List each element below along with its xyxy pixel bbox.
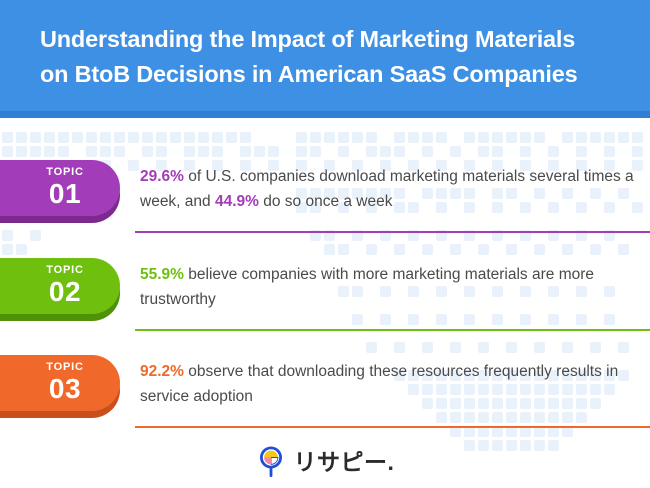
topic-badge-03[interactable]: TOPIC 03 bbox=[0, 355, 120, 415]
header-banner: Understanding the Impact of Marketing Ma… bbox=[0, 0, 650, 118]
topic-badge-inner: TOPIC 01 bbox=[32, 166, 98, 208]
stat-primary-value: 55.9% bbox=[140, 266, 184, 283]
stat-primary-value: 92.2% bbox=[140, 363, 184, 380]
stat-secondary-value: 44.9% bbox=[215, 193, 259, 210]
brand-name-text: リサピー bbox=[294, 449, 388, 475]
topic-number-label: 03 bbox=[32, 374, 98, 403]
brand-name-period: . bbox=[388, 449, 395, 475]
topic-description: 92.2% observe that downloading these res… bbox=[140, 359, 640, 409]
topic-text-part2: do so once a week bbox=[259, 193, 393, 210]
brand-name: リサピー. bbox=[294, 447, 395, 477]
topic-badge-face: TOPIC 01 bbox=[0, 160, 120, 216]
infographic-canvas: Understanding the Impact of Marketing Ma… bbox=[0, 0, 650, 488]
topic-description: 29.6% of U.S. companies download marketi… bbox=[140, 164, 640, 214]
topic-badge-02[interactable]: TOPIC 02 bbox=[0, 258, 120, 318]
topic-badge-01[interactable]: TOPIC 01 bbox=[0, 160, 120, 220]
topic-badge-face: TOPIC 03 bbox=[0, 355, 120, 411]
topic-badge-inner: TOPIC 02 bbox=[32, 264, 98, 306]
brand-logo[interactable]: リサピー. bbox=[0, 440, 650, 484]
topic-number-label: 02 bbox=[32, 277, 98, 306]
topic-divider-line bbox=[135, 329, 650, 331]
topic-description: 55.9% believe companies with more market… bbox=[140, 262, 640, 312]
page-title: Understanding the Impact of Marketing Ma… bbox=[40, 22, 620, 92]
topic-text-part1: believe companies with more marketing ma… bbox=[140, 266, 594, 308]
stat-primary-value: 29.6% bbox=[140, 168, 184, 185]
topic-badge-inner: TOPIC 03 bbox=[32, 361, 98, 403]
topic-number-label: 01 bbox=[32, 179, 98, 208]
magnifier-pie-chart-icon bbox=[256, 445, 286, 479]
topic-text-part1: observe that downloading these resources… bbox=[140, 363, 618, 405]
topic-divider-line bbox=[135, 231, 650, 233]
header-underline-stripe bbox=[0, 111, 650, 118]
topic-divider-line bbox=[135, 426, 650, 428]
topic-badge-face: TOPIC 02 bbox=[0, 258, 120, 314]
